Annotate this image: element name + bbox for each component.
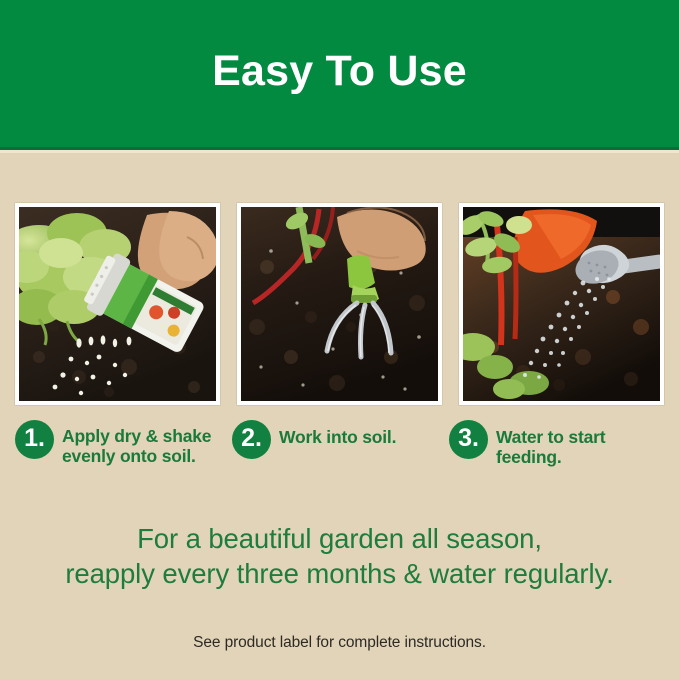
step-1-number-badge: 1.	[15, 420, 54, 459]
photo-frame-2	[237, 203, 442, 405]
header-divider-light	[0, 150, 679, 153]
steps-row: 1. Apply dry & shake evenly onto soil. 2…	[15, 420, 664, 505]
photo-frame-3	[459, 203, 664, 405]
step-3: 3. Water to start feeding.	[449, 420, 664, 505]
photo-frame-1	[15, 203, 220, 405]
photo-row	[15, 203, 664, 405]
step-2-label: Work into soil.	[279, 420, 396, 447]
step-1-label: Apply dry & shake evenly onto soil.	[62, 420, 230, 467]
step-1: 1. Apply dry & shake evenly onto soil.	[15, 420, 230, 505]
hand-cultivator-illustration	[241, 207, 438, 401]
tagline-line-1: For a beautiful garden all season,	[0, 521, 679, 556]
watering-can-illustration	[463, 207, 660, 401]
watering-can-photo	[463, 207, 660, 401]
tagline-line-2: reapply every three months & water regul…	[0, 556, 679, 591]
step-3-number-badge: 3.	[449, 420, 488, 459]
fertilizer-shaker-photo	[19, 207, 216, 401]
step-2: 2. Work into soil.	[232, 420, 447, 505]
hand-cultivator-photo	[241, 207, 438, 401]
tagline: For a beautiful garden all season, reapp…	[0, 521, 679, 591]
fertilizer-shaker-illustration	[19, 207, 216, 401]
page-title: Easy To Use	[212, 50, 467, 93]
step-3-label: Water to start feeding.	[496, 420, 664, 468]
header-banner: Easy To Use	[0, 0, 679, 147]
footnote: See product label for complete instructi…	[0, 634, 679, 652]
step-2-number-badge: 2.	[232, 420, 271, 459]
